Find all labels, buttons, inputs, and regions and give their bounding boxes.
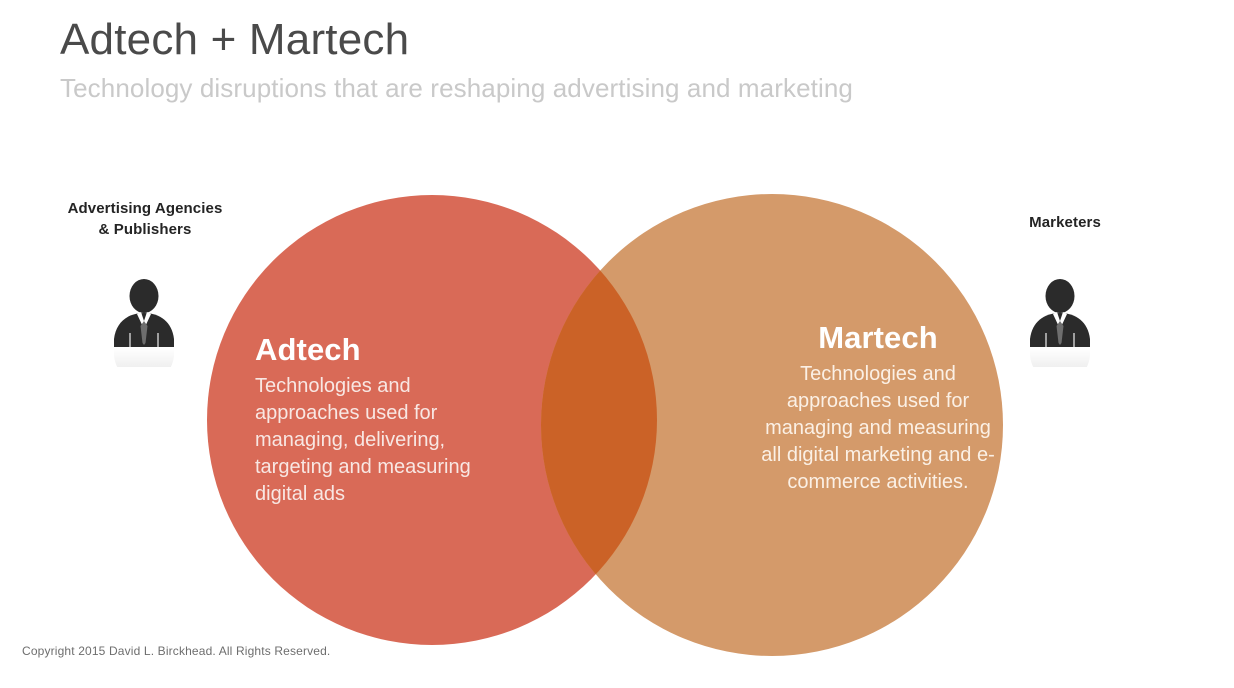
martech-text-block: Martech Technologies and approaches used…: [760, 320, 996, 497]
martech-description: Technologies and approaches used for man…: [760, 361, 996, 497]
right-audience-label: Marketers: [985, 212, 1145, 233]
adtech-heading: Adtech: [255, 332, 515, 369]
adtech-description: Technologies and approaches used for man…: [255, 373, 515, 509]
left-audience-label-line2: & Publishers: [56, 219, 234, 240]
martech-heading: Martech: [760, 320, 996, 357]
businessman-icon: [108, 277, 180, 367]
businessman-icon: [1024, 277, 1096, 367]
left-audience-label: Advertising Agencies & Publishers: [56, 198, 234, 241]
left-audience-label-line1: Advertising Agencies: [56, 198, 234, 219]
venn-diagram: Adtech Technologies and approaches used …: [0, 0, 1234, 688]
adtech-text-block: Adtech Technologies and approaches used …: [255, 332, 515, 509]
copyright-notice: Copyright 2015 David L. Birckhead. All R…: [22, 644, 330, 658]
